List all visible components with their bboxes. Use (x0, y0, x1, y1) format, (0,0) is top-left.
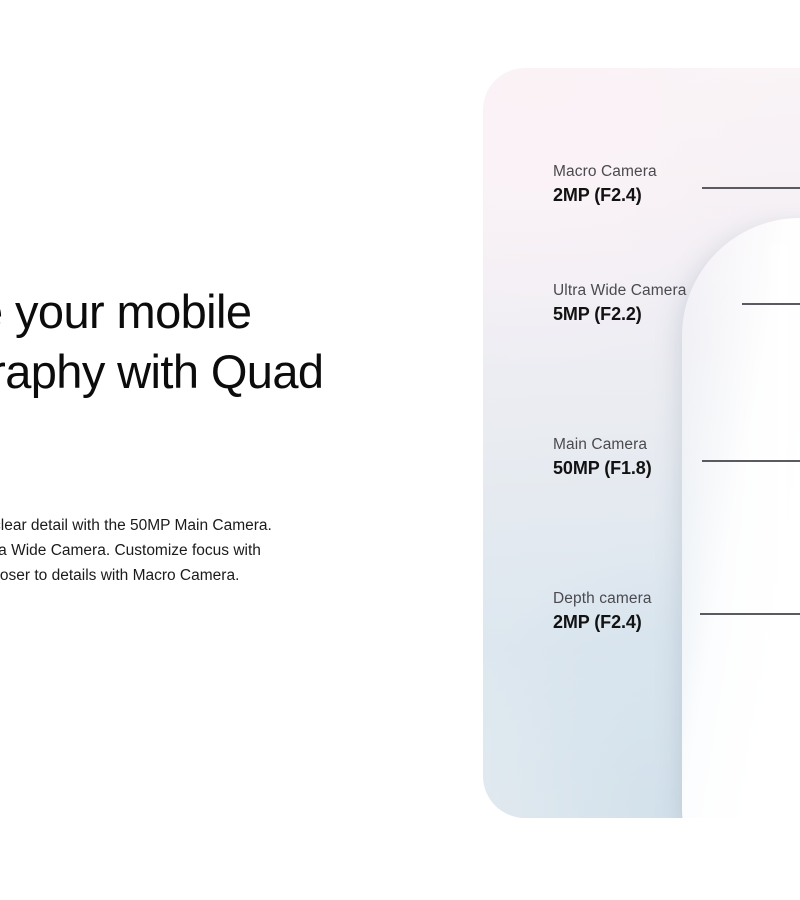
spec-label-depth: Depth camera (553, 589, 800, 608)
camera-spec-depth: Depth camera 2MP (F2.4) (553, 589, 800, 634)
camera-spec-ultrawide: Ultra Wide Camera 5MP (F2.2) (553, 281, 800, 326)
spec-value-ultrawide: 5MP (F2.2) (553, 304, 800, 326)
body-copy-paragraph: Capture the world in clear detail with t… (0, 513, 395, 588)
spec-label-main: Main Camera (553, 435, 800, 454)
spec-value-main: 50MP (F1.8) (553, 458, 800, 480)
spec-label-macro: Macro Camera (553, 162, 800, 181)
spec-value-depth: 2MP (F2.4) (553, 612, 800, 634)
spec-value-macro: 2MP (F2.4) (553, 185, 800, 207)
camera-spec-macro: Macro Camera 2MP (F2.4) (553, 162, 800, 207)
spec-label-ultrawide: Ultra Wide Camera (553, 281, 800, 300)
marketing-copy-column: Elevate your mobile photography with Qua… (0, 0, 410, 900)
camera-spec-main: Main Camera 50MP (F1.8) (553, 435, 800, 480)
page-headline: Elevate your mobile photography with Qua… (0, 282, 410, 402)
product-showcase-panel: Macro Camera 2MP (F2.4) Ultra Wide Camer… (483, 68, 800, 818)
phone-edge-highlight (764, 243, 794, 818)
